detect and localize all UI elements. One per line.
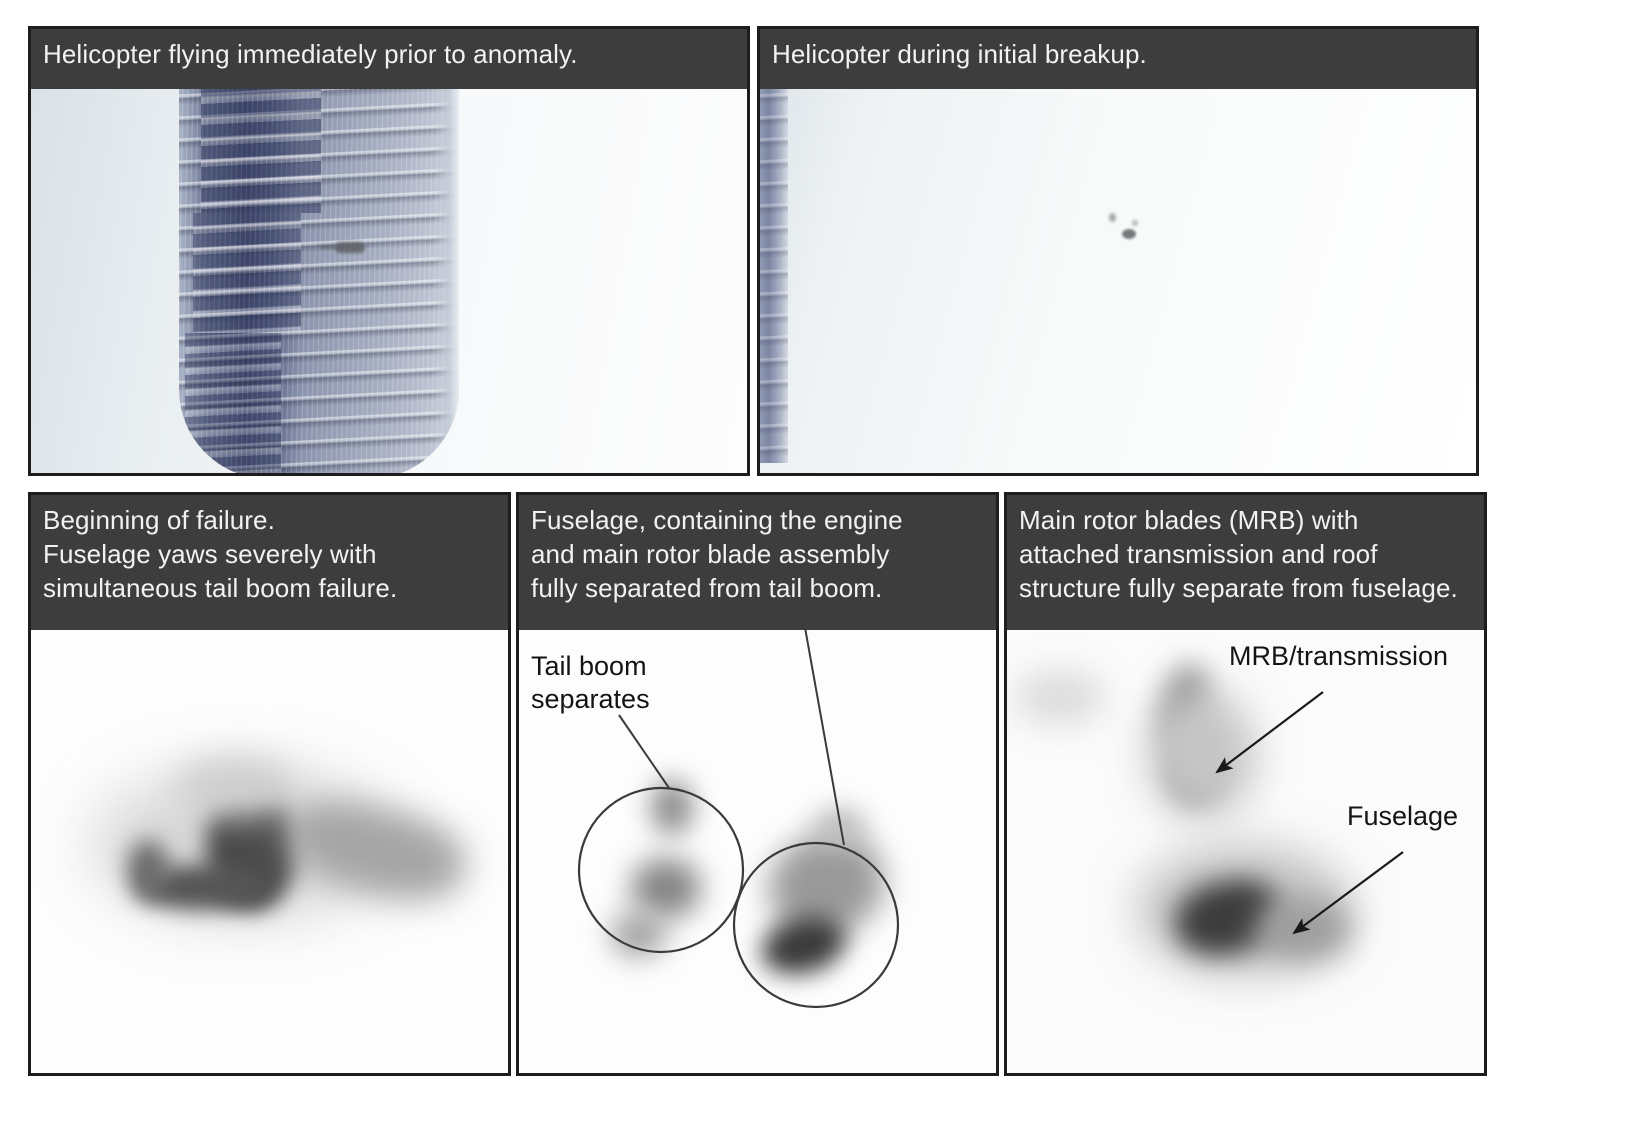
tower-building (179, 89, 459, 473)
sky-background (760, 89, 1476, 473)
mrb-transmission-label: MRB/transmission (1229, 640, 1448, 673)
tail-boom-separates-label: Tail boom separates (531, 650, 650, 716)
panel-top-left-image (31, 89, 747, 473)
panel-bottom-middle: Fuselage, containing the engine and main… (516, 492, 999, 1076)
fuselage-debris-right-smear (1255, 898, 1350, 960)
panel-top-left: Helicopter flying immediately prior to a… (28, 26, 750, 476)
panel-top-right-image (760, 89, 1476, 473)
panel-bottom-middle-image: Tail boom separates (519, 630, 996, 1073)
panel-top-right-caption: Helicopter during initial breakup. (760, 29, 1476, 89)
panel-bottom-right-image: MRB/transmission Fuselage (1007, 630, 1484, 1073)
panel-bottom-right: Main rotor blades (MRB) with attached tr… (1004, 492, 1487, 1076)
debris-upper-fragment (651, 780, 693, 835)
helicopter-breakup-silhouette (1122, 229, 1136, 239)
panel-bottom-middle-caption: Fuselage, containing the engine and main… (519, 495, 996, 630)
fuselage-label: Fuselage (1347, 800, 1458, 833)
panel-bottom-left-caption: Beginning of failure. Fuselage yaws seve… (31, 495, 508, 630)
panel-bottom-right-caption: Main rotor blades (MRB) with attached tr… (1007, 495, 1484, 630)
panel-top-right: Helicopter during initial breakup. (757, 26, 1479, 476)
wreckage-hook-left (127, 840, 169, 900)
mrb-blade-smear (1147, 690, 1257, 820)
helicopter-tail-boom (319, 245, 339, 249)
debris-faint-left (1015, 670, 1105, 725)
breakup-sequence-figure: Helicopter flying immediately prior to a… (0, 0, 1635, 1148)
tower-building-sliver (760, 89, 788, 463)
tower-dark-band-lower (185, 333, 281, 473)
tower-right-highlight (433, 89, 459, 473)
helicopter-debris-fragment-2 (1132, 220, 1138, 226)
wreckage-faint-upper (176, 758, 296, 818)
debris-mid-fragment (631, 858, 701, 918)
panel-top-left-caption: Helicopter flying immediately prior to a… (31, 29, 747, 89)
tower-floor-bands (760, 89, 788, 463)
helicopter-silhouette (335, 242, 365, 253)
helicopter-debris-fragment-1 (1109, 213, 1116, 222)
fuselage-debris-tail (815, 808, 865, 848)
tower-dark-band-mid (193, 213, 301, 333)
panel-bottom-left: Beginning of failure. Fuselage yaws seve… (28, 492, 511, 1076)
panel-bottom-left-image (31, 630, 508, 1073)
debris-lower-left-fragment (611, 912, 666, 957)
tower-dark-band-upper (201, 89, 321, 213)
tail-boom-leader-line (619, 715, 669, 788)
